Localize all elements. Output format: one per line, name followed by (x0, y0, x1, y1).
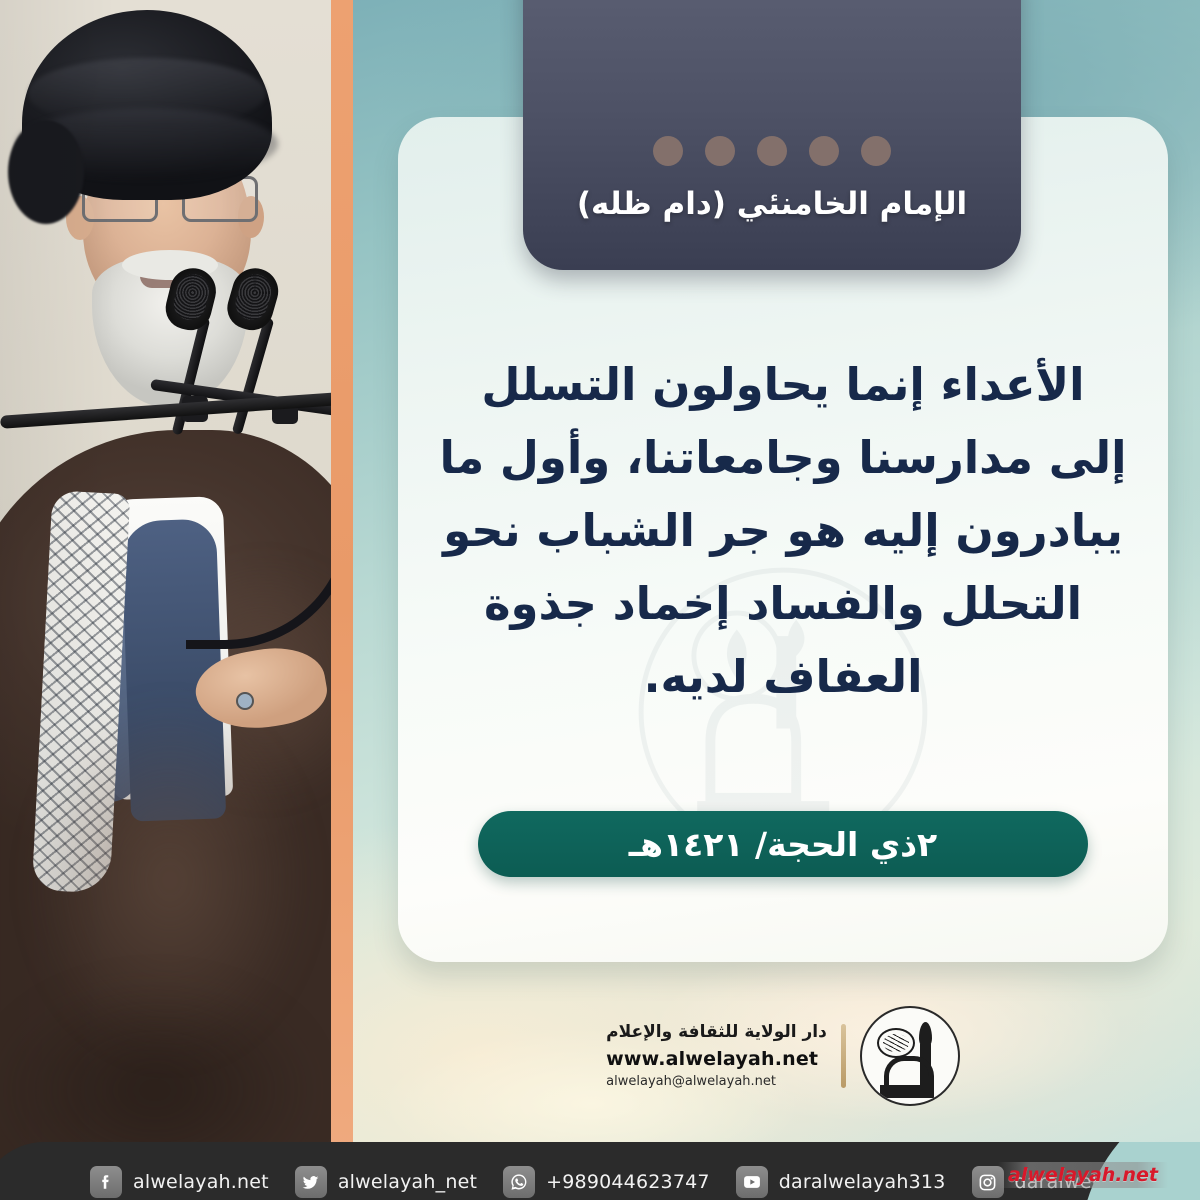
quote-text: الأعداء إنما يحاولون التسلل إلى مدارسنا … (438, 349, 1128, 713)
organization-email[interactable]: alwelayah@alwelayah.net (606, 1072, 776, 1092)
dot-icon (757, 136, 787, 166)
branding-text: دار الولاية للثقافة والإعلام www.alwelay… (606, 1020, 827, 1092)
logo-divider (841, 1024, 846, 1088)
dot-icon (653, 136, 683, 166)
social-item-youtube[interactable]: daralwelayah313 (736, 1166, 946, 1198)
twitter-icon (295, 1166, 327, 1198)
whatsapp-icon (503, 1166, 535, 1198)
organization-logo-icon (860, 1006, 960, 1106)
social-item-whatsapp[interactable]: +989044623747 (503, 1166, 710, 1198)
speaker-photo (0, 0, 331, 1200)
social-handle: +989044623747 (546, 1171, 710, 1193)
social-list: alwelayah.net alwelayah_net +98904462374… (90, 1142, 1130, 1200)
site-watermark: alwelayah.net (998, 1162, 1168, 1188)
youtube-icon (736, 1166, 768, 1198)
accent-stripe (331, 0, 353, 1200)
logo-base-icon (880, 1085, 934, 1098)
social-handle: daralwelayah313 (779, 1171, 946, 1193)
dot-icon (809, 136, 839, 166)
social-item-telegram[interactable]: alwelayah_net (1170, 1166, 1200, 1198)
logo-seal-icon (877, 1028, 915, 1058)
poster-root: الإمام الخامنئي (دام ظله) الأعداء إنما ي… (0, 0, 1200, 1200)
date-badge: ٢ذي الحجة/ ١٤٢١هـ (478, 811, 1088, 877)
photo-vignette (0, 0, 331, 1200)
organization-website[interactable]: www.alwelayah.net (606, 1046, 818, 1073)
branding-row: دار الولاية للثقافة والإعلام www.alwelay… (398, 1002, 1168, 1110)
social-handle: alwelayah.net (133, 1171, 269, 1193)
decorative-dots (523, 136, 1021, 166)
organization-name: دار الولاية للثقافة والإعلام (606, 1020, 827, 1046)
social-item-facebook[interactable]: alwelayah.net (90, 1166, 269, 1198)
telegram-icon (1170, 1166, 1200, 1198)
dot-icon (705, 136, 735, 166)
facebook-icon (90, 1166, 122, 1198)
speaker-header-tab: الإمام الخامنئي (دام ظله) (523, 0, 1021, 270)
dot-icon (861, 136, 891, 166)
social-item-twitter[interactable]: alwelayah_net (295, 1166, 477, 1198)
social-handle: alwelayah_net (338, 1171, 477, 1193)
speaker-name: الإمام الخامنئي (دام ظله) (523, 186, 1021, 222)
